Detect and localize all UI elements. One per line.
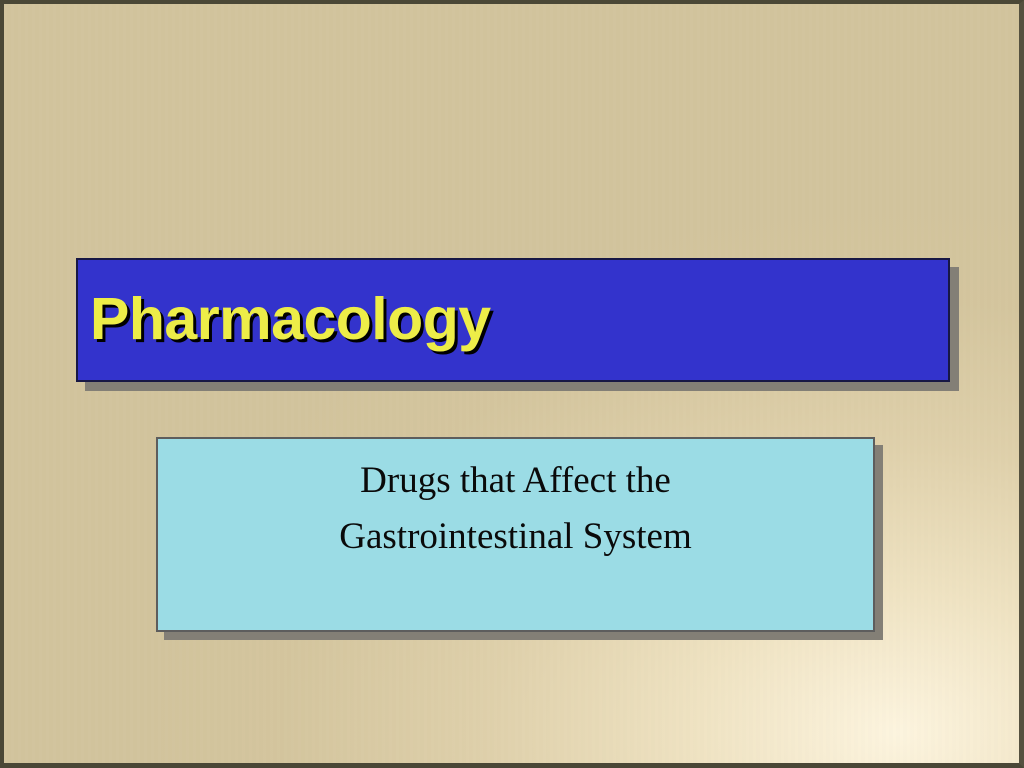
presentation-slide: Pharmacology Drugs that Affect the Gastr…	[0, 0, 1024, 768]
title-box-face[interactable]: Pharmacology	[76, 258, 950, 382]
slide-subtitle-line-1: Drugs that Affect the	[360, 453, 671, 509]
slide-subtitle-box[interactable]: Drugs that Affect the Gastrointestinal S…	[156, 437, 875, 632]
slide-title-text: Pharmacology	[90, 289, 491, 351]
slide-subtitle-line-2: Gastrointestinal System	[339, 509, 692, 565]
subtitle-box-face[interactable]: Drugs that Affect the Gastrointestinal S…	[156, 437, 875, 632]
slide-title-box[interactable]: Pharmacology	[76, 258, 950, 382]
